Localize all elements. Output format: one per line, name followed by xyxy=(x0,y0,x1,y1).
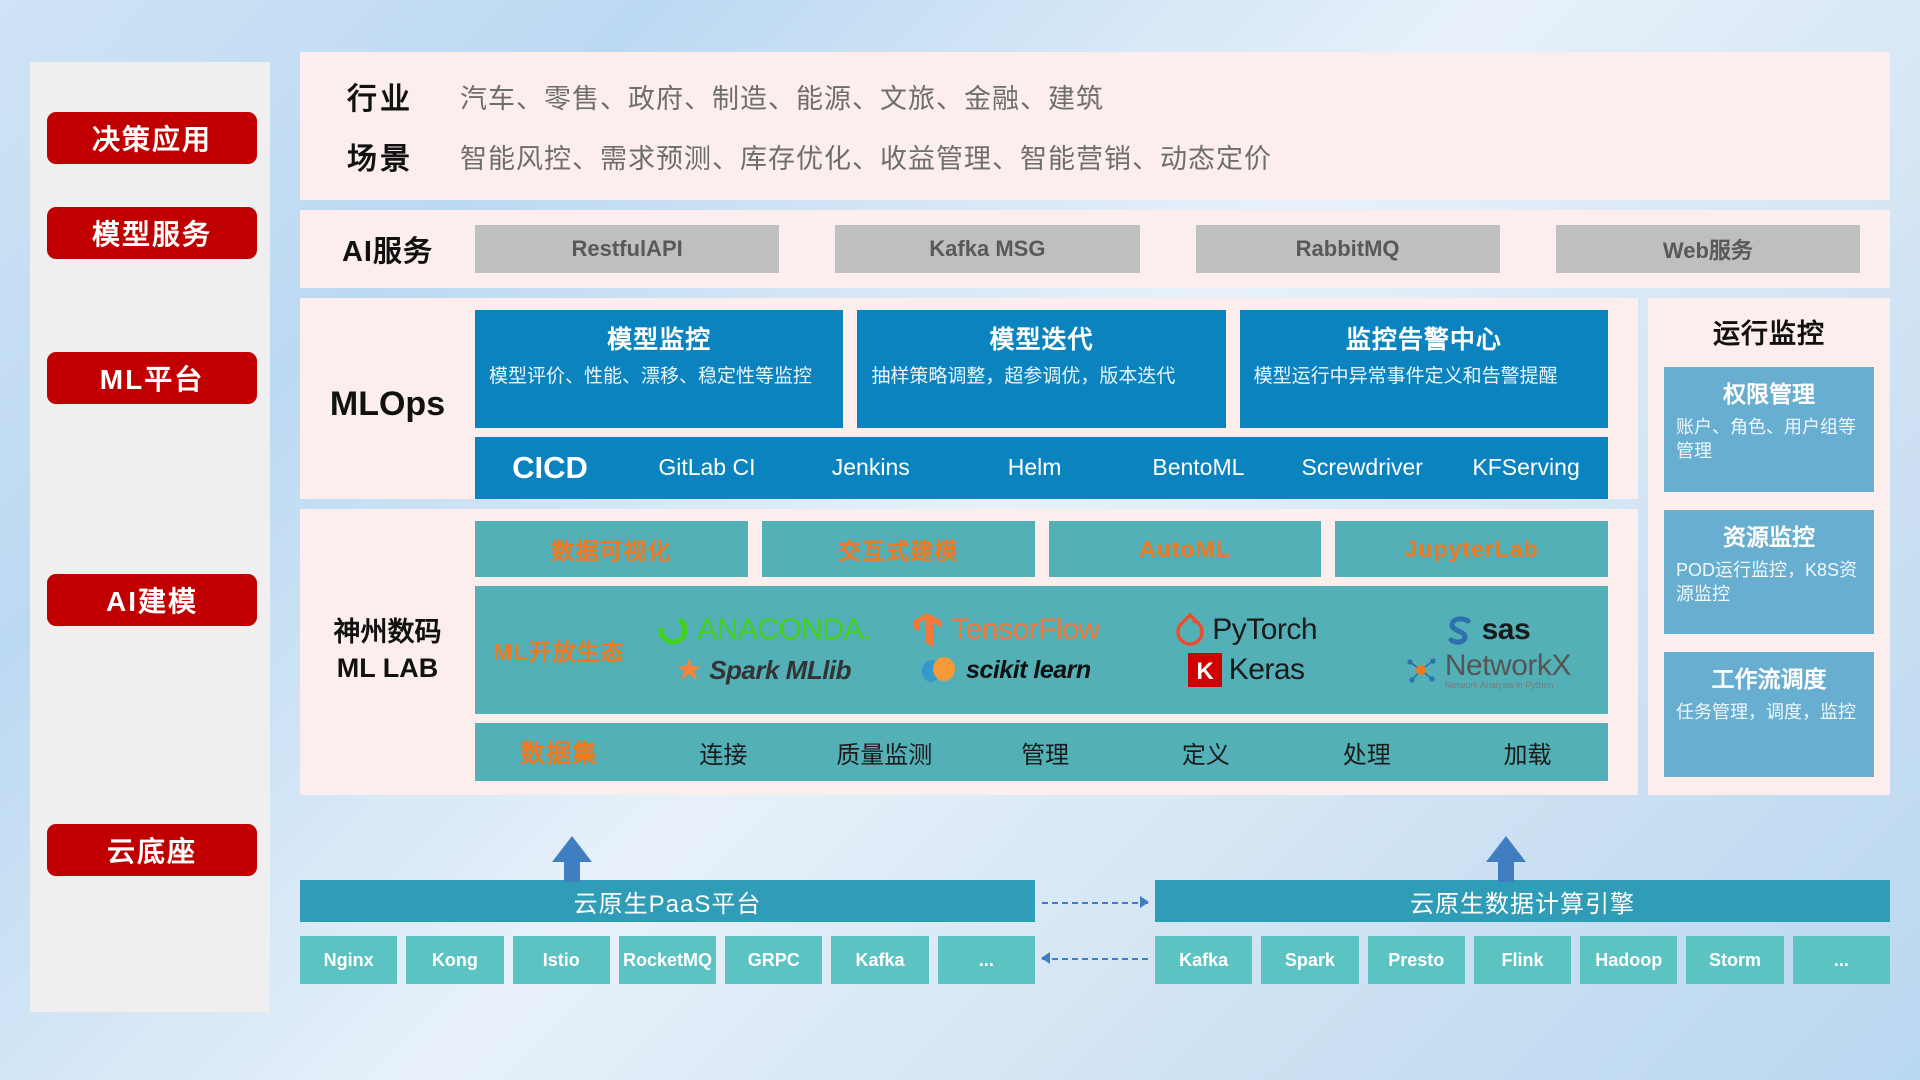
logo-label-keras: Keras xyxy=(1229,653,1305,687)
ai-service-band: AI服务 RestfulAPI Kafka MSG RabbitMQ Web服务 xyxy=(300,210,1890,288)
industry-label: 行业 xyxy=(300,74,460,118)
dataset-item-process[interactable]: 处理 xyxy=(1286,735,1447,770)
mlops-content: 模型监控 模型评价、性能、漂移、稳定性等监控 模型迭代 抽样策略调整，超参调优，… xyxy=(475,310,1638,499)
platform-column: MLOps 模型监控 模型评价、性能、漂移、稳定性等监控 模型迭代 抽样策略调整… xyxy=(300,298,1638,795)
middle-zone: MLOps 模型监控 模型评价、性能、漂移、稳定性等监控 模型迭代 抽样策略调整… xyxy=(300,298,1890,795)
dataset-title: 数据集 xyxy=(475,734,643,770)
cicd-item-kfserving[interactable]: KFServing xyxy=(1444,453,1608,482)
monitoring-card-resource[interactable]: 资源监控 POD运行监控，K8S资源监控 xyxy=(1664,510,1874,635)
logo-label-anaconda: ANACONDA. xyxy=(697,613,871,647)
industry-scenario-band: 行业 汽车、零售、政府、制造、能源、文旅、金融、建筑 场景 智能风控、需求预测、… xyxy=(300,52,1890,200)
tool-chip-data-visualization[interactable]: 数据可视化 xyxy=(475,521,748,577)
ml-ecosystem-logos: ANACONDA. TensorFlow xyxy=(643,586,1608,714)
dashed-arrow-head-right xyxy=(1140,896,1149,908)
paas-chip-nginx[interactable]: Nginx xyxy=(300,936,397,984)
data-engine-column: 云原生数据计算引擎 Kafka Spark Presto Flink Hadoo… xyxy=(1155,880,1890,984)
cloud-foundation-zone: 云原生PaaS平台 Nginx Kong Istio RocketMQ GRPC… xyxy=(300,880,1890,984)
logo-sub-networkx: Network Analysis in Python xyxy=(1445,681,1571,690)
tensorflow-icon xyxy=(910,611,944,649)
cicd-item-list: GitLab CI Jenkins Helm BentoML Screwdriv… xyxy=(625,453,1608,482)
logo-label-networkx: NetworkX xyxy=(1445,651,1571,681)
ml-ecosystem-panel: ML开放生态 ANACONDA. xyxy=(475,586,1608,714)
cicd-item-jenkins[interactable]: Jenkins xyxy=(789,453,953,482)
cicd-title: CICD xyxy=(475,450,625,486)
ai-service-list: RestfulAPI Kafka MSG RabbitMQ Web服务 xyxy=(475,225,1890,273)
card-desc: 抽样策略调整，超参调优，版本迭代 xyxy=(871,364,1211,390)
ml-lab-band: 神州数码 ML LAB 数据可视化 交互式建模 AutoML JupyterLa… xyxy=(300,509,1638,795)
ai-service-chip-rabbitmq[interactable]: RabbitMQ xyxy=(1196,225,1500,273)
dataset-row: 数据集 连接 质量监测 管理 定义 处理 加载 xyxy=(475,723,1608,781)
left-rail: 决策应用 模型服务 ML平台 AI建模 云底座 xyxy=(30,62,270,1012)
dataset-item-manage[interactable]: 管理 xyxy=(965,735,1126,770)
arrow-up-right-stem xyxy=(1498,860,1514,882)
engine-chip-flink[interactable]: Flink xyxy=(1474,936,1571,984)
card-title: 监控告警中心 xyxy=(1254,320,1594,356)
rail-item-model-service[interactable]: 模型服务 xyxy=(47,207,257,259)
card-title: 模型迭代 xyxy=(871,320,1211,356)
ai-service-chip-restfulapi[interactable]: RestfulAPI xyxy=(475,225,779,273)
arrow-up-left-head xyxy=(552,836,592,862)
ml-ecosystem-label: ML开放生态 xyxy=(475,586,643,714)
engine-chip-storm[interactable]: Storm xyxy=(1686,936,1783,984)
card-title: 工作流调度 xyxy=(1676,660,1862,694)
logo-tensorflow: TensorFlow xyxy=(884,611,1125,649)
rail-item-cloud-base[interactable]: 云底座 xyxy=(47,824,257,876)
main-column: 行业 汽车、零售、政府、制造、能源、文旅、金融、建筑 场景 智能风控、需求预测、… xyxy=(300,52,1890,795)
logo-networkx: NetworkX Network Analysis in Python xyxy=(1367,651,1608,690)
rail-label: ML平台 xyxy=(100,358,204,398)
dataset-item-load[interactable]: 加载 xyxy=(1447,735,1608,770)
dataset-item-define[interactable]: 定义 xyxy=(1125,735,1286,770)
cicd-item-bentoml[interactable]: BentoML xyxy=(1116,453,1280,482)
ml-lab-content: 数据可视化 交互式建模 AutoML JupyterLab ML开放生态 xyxy=(475,521,1638,781)
mlops-label: MLOps xyxy=(300,310,475,499)
card-desc: 模型运行中异常事件定义和告警提醒 xyxy=(1254,364,1594,390)
industry-row: 行业 汽车、零售、政府、制造、能源、文旅、金融、建筑 xyxy=(300,74,1890,118)
logo-spark-mllib: Spark MLlib xyxy=(643,655,884,686)
engine-chip-more[interactable]: ... xyxy=(1793,936,1890,984)
scenario-values: 智能风控、需求预测、库存优化、收益管理、智能营销、动态定价 xyxy=(460,137,1272,176)
logo-label-tensorflow: TensorFlow xyxy=(951,613,1099,647)
paas-column: 云原生PaaS平台 Nginx Kong Istio RocketMQ GRPC… xyxy=(300,880,1035,984)
paas-chip-more[interactable]: ... xyxy=(938,936,1035,984)
rail-item-ml-platform[interactable]: ML平台 xyxy=(47,352,257,404)
cicd-bar: CICD GitLab CI Jenkins Helm BentoML Scre… xyxy=(475,437,1608,499)
monitoring-card-permission[interactable]: 权限管理 账户、角色、用户组等管理 xyxy=(1664,367,1874,492)
cicd-item-helm[interactable]: Helm xyxy=(953,453,1117,482)
mlops-card-model-monitoring[interactable]: 模型监控 模型评价、性能、漂移、稳定性等监控 xyxy=(475,310,843,428)
ai-service-chip-kafka-msg[interactable]: Kafka MSG xyxy=(835,225,1139,273)
rail-item-decision-app[interactable]: 决策应用 xyxy=(47,112,257,164)
rail-label: 模型服务 xyxy=(92,213,212,253)
card-title: 权限管理 xyxy=(1676,375,1862,409)
paas-chip-list: Nginx Kong Istio RocketMQ GRPC Kafka ... xyxy=(300,936,1035,984)
runtime-monitoring-title: 运行监控 xyxy=(1664,312,1874,351)
tool-chip-automl[interactable]: AutoML xyxy=(1049,521,1322,577)
dataset-item-quality[interactable]: 质量监测 xyxy=(804,735,965,770)
rail-label: AI建模 xyxy=(106,580,198,620)
mlops-band: MLOps 模型监控 模型评价、性能、漂移、稳定性等监控 模型迭代 抽样策略调整… xyxy=(300,298,1638,499)
card-desc: 任务管理，调度，监控 xyxy=(1676,700,1862,724)
card-desc: 账户、角色、用户组等管理 xyxy=(1676,415,1862,464)
ml-lab-label: 神州数码 ML LAB xyxy=(300,521,475,781)
scikit-learn-icon xyxy=(919,655,959,685)
runtime-monitoring-panel: 运行监控 权限管理 账户、角色、用户组等管理 资源监控 POD运行监控，K8S资… xyxy=(1648,298,1890,795)
rail-label: 决策应用 xyxy=(92,118,212,158)
rail-item-ai-modeling[interactable]: AI建模 xyxy=(47,574,257,626)
logo-pytorch: PyTorch xyxy=(1126,612,1367,648)
networkx-icon xyxy=(1404,654,1438,686)
ml-lab-label-line2: ML LAB xyxy=(337,651,439,687)
rail-label: 云底座 xyxy=(107,830,197,870)
card-title: 资源监控 xyxy=(1676,518,1862,552)
spark-star-icon xyxy=(676,657,702,683)
data-engine-chip-list: Kafka Spark Presto Flink Hadoop Storm ..… xyxy=(1155,936,1890,984)
cicd-item-gitlab-ci[interactable]: GitLab CI xyxy=(625,453,789,482)
ml-lab-label-line1: 神州数码 xyxy=(334,615,442,651)
scenario-label: 场景 xyxy=(300,134,460,178)
logo-keras: K Keras xyxy=(1126,653,1367,687)
sas-icon xyxy=(1445,614,1475,646)
tool-chip-jupyterlab[interactable]: JupyterLab xyxy=(1335,521,1608,577)
keras-icon: K xyxy=(1188,653,1222,687)
dataset-item-list: 连接 质量监测 管理 定义 处理 加载 xyxy=(643,735,1608,770)
arrow-up-left-stem xyxy=(564,860,580,882)
pytorch-icon xyxy=(1175,612,1205,648)
logo-label-sas: sas xyxy=(1482,613,1531,647)
ai-service-label: AI服务 xyxy=(300,228,475,270)
engine-chip-kafka[interactable]: Kafka xyxy=(1155,936,1252,984)
mlops-card-alert-center[interactable]: 监控告警中心 模型运行中异常事件定义和告警提醒 xyxy=(1240,310,1608,428)
svg-text:K: K xyxy=(1196,658,1214,685)
logo-label-spark-mllib: Spark MLlib xyxy=(709,655,851,686)
industry-values: 汽车、零售、政府、制造、能源、文旅、金融、建筑 xyxy=(460,77,1104,116)
cloud-columns: 云原生PaaS平台 Nginx Kong Istio RocketMQ GRPC… xyxy=(300,880,1890,984)
data-engine-bar[interactable]: 云原生数据计算引擎 xyxy=(1155,880,1890,922)
mlops-card-model-iteration[interactable]: 模型迭代 抽样策略调整，超参调优，版本迭代 xyxy=(857,310,1225,428)
arrow-up-right-head xyxy=(1486,836,1526,862)
paas-chip-istio[interactable]: Istio xyxy=(513,936,610,984)
monitoring-card-workflow[interactable]: 工作流调度 任务管理，调度，监控 xyxy=(1664,652,1874,777)
logo-label-scikit-learn: scikit learn xyxy=(966,656,1091,685)
engine-chip-presto[interactable]: Presto xyxy=(1368,936,1465,984)
mlops-card-list: 模型监控 模型评价、性能、漂移、稳定性等监控 模型迭代 抽样策略调整，超参调优，… xyxy=(475,310,1608,428)
scenario-row: 场景 智能风控、需求预测、库存优化、收益管理、智能营销、动态定价 xyxy=(300,134,1890,178)
card-desc: POD运行监控，K8S资源监控 xyxy=(1676,558,1862,607)
logo-anaconda: ANACONDA. xyxy=(643,613,884,647)
logo-row-1: ANACONDA. TensorFlow xyxy=(643,611,1608,649)
card-desc: 模型评价、性能、漂移、稳定性等监控 xyxy=(489,364,829,390)
logo-label-pytorch: PyTorch xyxy=(1212,613,1317,647)
ml-tools-row: 数据可视化 交互式建模 AutoML JupyterLab xyxy=(475,521,1608,577)
tool-chip-interactive-modeling[interactable]: 交互式建模 xyxy=(762,521,1035,577)
paas-bar[interactable]: 云原生PaaS平台 xyxy=(300,880,1035,922)
card-title: 模型监控 xyxy=(489,320,829,356)
cicd-item-screwdriver[interactable]: Screwdriver xyxy=(1280,453,1444,482)
dashed-arrow-head-left xyxy=(1041,952,1050,964)
paas-chip-kafka[interactable]: Kafka xyxy=(831,936,928,984)
logo-sas: sas xyxy=(1367,613,1608,647)
paas-chip-grpc[interactable]: GRPC xyxy=(725,936,822,984)
anaconda-icon xyxy=(656,613,690,647)
logo-row-2: Spark MLlib scikit learn xyxy=(643,651,1608,690)
paas-chip-kong[interactable]: Kong xyxy=(406,936,503,984)
dataset-item-connect[interactable]: 连接 xyxy=(643,735,804,770)
logo-scikit-learn: scikit learn xyxy=(884,655,1125,685)
engine-chip-hadoop[interactable]: Hadoop xyxy=(1580,936,1677,984)
ai-service-chip-web[interactable]: Web服务 xyxy=(1556,225,1860,273)
paas-chip-rocketmq[interactable]: RocketMQ xyxy=(619,936,716,984)
engine-chip-spark[interactable]: Spark xyxy=(1261,936,1358,984)
